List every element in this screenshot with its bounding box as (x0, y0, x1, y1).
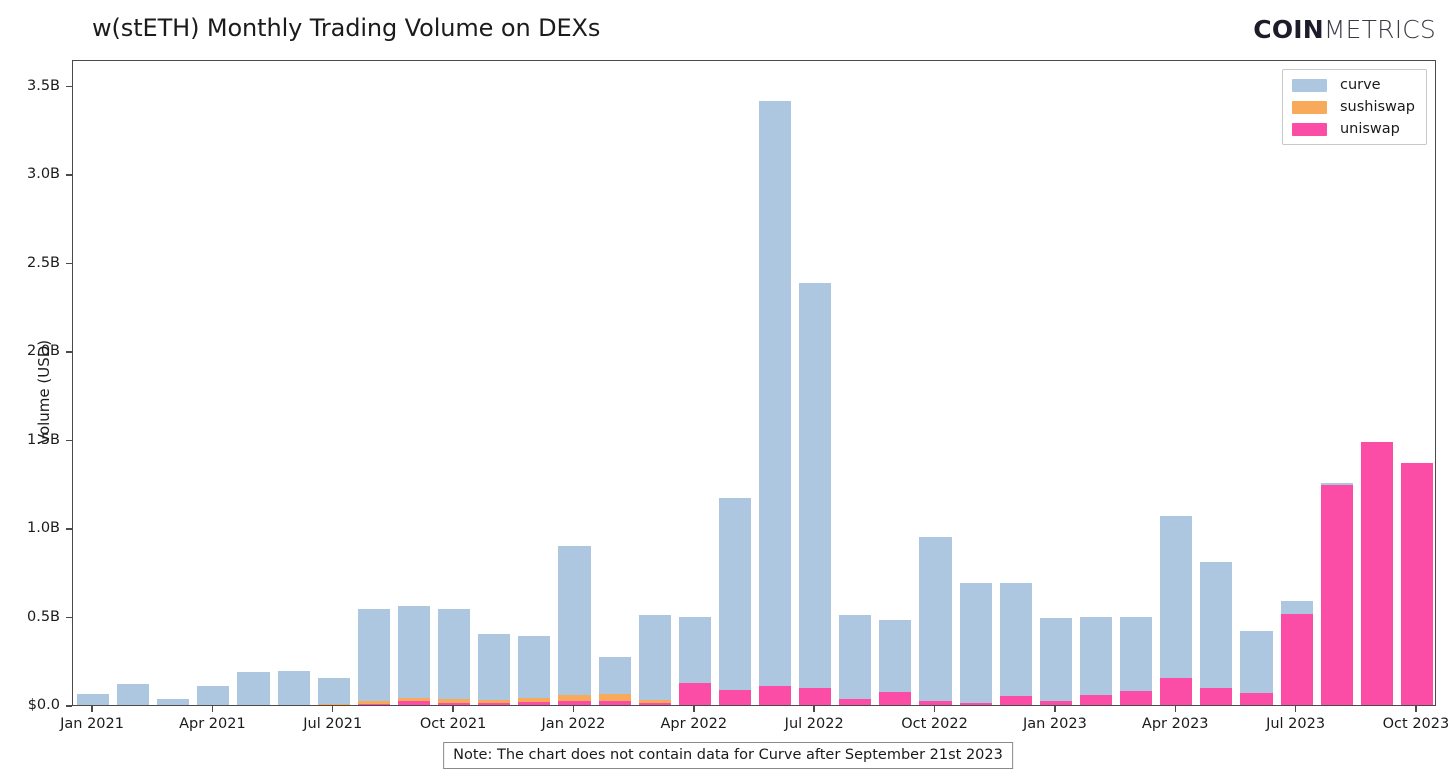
x-tick-mark (934, 706, 935, 712)
legend-item-uniswap[interactable]: uniswap (1292, 121, 1415, 137)
bar-segment-uniswap (919, 701, 951, 705)
legend-swatch-sushiswap (1292, 101, 1327, 114)
bar-group[interactable] (599, 61, 631, 705)
bar-group[interactable] (799, 61, 831, 705)
bar-group[interactable] (839, 61, 871, 705)
bar-group[interactable] (639, 61, 671, 705)
x-tick-mark (573, 706, 574, 712)
x-tick-label: Jul 2022 (785, 716, 844, 732)
bar-group[interactable] (1000, 61, 1032, 705)
bar-segment-uniswap (679, 683, 711, 705)
bar-segment-uniswap (759, 686, 791, 705)
plot-frame: curvesushiswapuniswap (72, 60, 1436, 706)
x-tick-mark (693, 706, 694, 712)
bar-segment-uniswap (1240, 693, 1272, 705)
bar-segment-curve (157, 699, 189, 705)
x-tick-label: Jul 2023 (1266, 716, 1325, 732)
bar-segment-curve (599, 657, 631, 694)
x-tick-label: Apr 2022 (661, 716, 728, 732)
bar-segment-uniswap (879, 692, 911, 705)
y-tick-mark (66, 440, 72, 441)
bar-segment-curve (278, 671, 310, 706)
y-tick-label: 3.0B (0, 166, 60, 182)
bar-group[interactable] (759, 61, 791, 705)
bar-group[interactable] (1361, 61, 1393, 705)
y-tick-label: 2.0B (0, 343, 60, 359)
bar-segment-uniswap (478, 703, 510, 705)
bar-segment-uniswap (799, 688, 831, 705)
bar-group[interactable] (237, 61, 269, 705)
bar-segment-curve (1321, 483, 1353, 484)
bar-group[interactable] (478, 61, 510, 705)
bar-segment-curve (679, 617, 711, 682)
x-tick-label: Jul 2021 (303, 716, 362, 732)
bar-group[interactable] (1281, 61, 1313, 705)
bar-group[interactable] (1200, 61, 1232, 705)
bar-group[interactable] (197, 61, 229, 705)
legend-item-sushiswap[interactable]: sushiswap (1292, 99, 1415, 115)
bar-group[interactable] (1160, 61, 1192, 705)
bar-segment-uniswap (960, 703, 992, 705)
bar-segment-curve (639, 615, 671, 700)
bar-segment-uniswap (839, 699, 871, 705)
chart-page: w(stETH) Monthly Trading Volume on DEXs … (0, 0, 1456, 784)
legend-label-uniswap: uniswap (1340, 121, 1400, 137)
bar-group[interactable] (438, 61, 470, 705)
page-title: w(stETH) Monthly Trading Volume on DEXs (92, 14, 600, 42)
bar-segment-sushiswap (558, 695, 590, 700)
bar-segment-sushiswap (358, 701, 390, 704)
bar-segment-uniswap (1321, 485, 1353, 705)
bar-segment-uniswap (1120, 691, 1152, 705)
y-tick-label: 1.0B (0, 520, 60, 536)
bar-segment-sushiswap (478, 700, 510, 703)
x-tick-mark (1175, 706, 1176, 712)
x-tick-mark (813, 706, 814, 712)
bar-group[interactable] (960, 61, 992, 705)
x-tick-label: Oct 2023 (1383, 716, 1450, 732)
bar-group[interactable] (1040, 61, 1072, 705)
y-tick-mark (66, 86, 72, 87)
bar-segment-curve (960, 583, 992, 702)
bar-segment-curve (237, 672, 269, 705)
bar-segment-uniswap (558, 701, 590, 705)
bar-segment-uniswap (1401, 463, 1433, 705)
y-tick-mark (66, 617, 72, 618)
bar-group[interactable] (318, 61, 350, 705)
y-tick-mark (66, 263, 72, 264)
bar-group[interactable] (398, 61, 430, 705)
x-tick-label: Apr 2021 (179, 716, 246, 732)
y-tick-label: 0.5B (0, 609, 60, 625)
bar-segment-uniswap (639, 703, 671, 705)
bar-segment-curve (1281, 601, 1313, 614)
bar-segment-uniswap (518, 702, 550, 705)
chart-note: Note: The chart does not contain data fo… (443, 742, 1013, 769)
bar-group[interactable] (278, 61, 310, 705)
logo-metrics-text: METRICS (1324, 15, 1436, 44)
coinmetrics-logo: COINMETRICS (1253, 17, 1436, 42)
y-tick-label: 2.5B (0, 255, 60, 271)
y-tick-mark (66, 174, 72, 175)
y-tick-label: 1.5B (0, 432, 60, 448)
bar-segment-curve (1120, 617, 1152, 690)
legend-swatch-curve (1292, 79, 1327, 92)
bar-segment-curve (919, 537, 951, 701)
bar-segment-sushiswap (599, 694, 631, 701)
bar-group[interactable] (157, 61, 189, 705)
x-tick-mark (1054, 706, 1055, 712)
bar-segment-sushiswap (639, 700, 671, 703)
bar-group[interactable] (1120, 61, 1152, 705)
bar-segment-uniswap (1160, 678, 1192, 705)
bar-segment-curve (1200, 562, 1232, 689)
bar-segment-curve (1040, 618, 1072, 701)
bar-group[interactable] (879, 61, 911, 705)
x-tick-label: Jan 2022 (542, 716, 606, 732)
bar-segment-curve (719, 498, 751, 690)
bar-segment-uniswap (398, 701, 430, 705)
bar-segment-curve (799, 283, 831, 688)
bar-segment-uniswap (599, 701, 631, 705)
x-tick-mark (91, 706, 92, 712)
y-tick-label: $0.0 (0, 697, 60, 713)
bar-group[interactable] (358, 61, 390, 705)
bar-segment-curve (77, 694, 109, 706)
bar-segment-uniswap (1200, 688, 1232, 705)
bar-segment-curve (438, 609, 470, 699)
y-tick-mark (66, 705, 72, 706)
bar-segment-uniswap (1281, 614, 1313, 705)
bar-group[interactable] (919, 61, 951, 705)
legend-item-curve[interactable]: curve (1292, 77, 1415, 93)
bar-segment-curve (518, 636, 550, 698)
x-tick-mark (1415, 706, 1416, 712)
bar-group[interactable] (1080, 61, 1112, 705)
x-tick-mark (332, 706, 333, 712)
bar-group[interactable] (1401, 61, 1433, 705)
bar-segment-uniswap (1361, 442, 1393, 705)
bar-segment-sushiswap (318, 704, 350, 705)
y-tick-mark (66, 351, 72, 352)
bar-segment-uniswap (1040, 701, 1072, 705)
bar-segment-curve (759, 101, 791, 687)
logo-coin-text: COIN (1253, 15, 1324, 44)
bar-segment-sushiswap (518, 698, 550, 702)
bar-group[interactable] (1240, 61, 1272, 705)
bar-group[interactable] (1321, 61, 1353, 705)
bar-group[interactable] (558, 61, 590, 705)
x-tick-label: Jan 2023 (1023, 716, 1087, 732)
bar-segment-curve (197, 686, 229, 705)
x-tick-label: Jan 2021 (60, 716, 124, 732)
y-tick-mark (66, 528, 72, 529)
bar-group[interactable] (117, 61, 149, 705)
bar-segment-curve (478, 634, 510, 699)
bar-group[interactable] (679, 61, 711, 705)
bar-segment-curve (117, 684, 149, 705)
bar-segment-curve (879, 620, 911, 692)
x-tick-label: Oct 2022 (901, 716, 968, 732)
bar-segment-curve (318, 678, 350, 704)
bar-segment-curve (1080, 617, 1112, 696)
bar-segment-curve (358, 609, 390, 701)
bar-segment-curve (839, 615, 871, 699)
legend-swatch-uniswap (1292, 123, 1327, 136)
chart-legend[interactable]: curvesushiswapuniswap (1282, 69, 1427, 145)
y-tick-label: 3.5B (0, 78, 60, 94)
x-tick-label: Oct 2021 (420, 716, 487, 732)
plot-area (73, 61, 1435, 705)
bar-segment-uniswap (1000, 696, 1032, 705)
x-tick-mark (212, 706, 213, 712)
x-tick-mark (452, 706, 453, 712)
bar-segment-uniswap (719, 690, 751, 705)
x-tick-mark (1295, 706, 1296, 712)
legend-label-sushiswap: sushiswap (1340, 99, 1415, 115)
x-tick-label: Apr 2023 (1142, 716, 1209, 732)
bar-segment-sushiswap (398, 698, 430, 700)
legend-label-curve: curve (1340, 77, 1381, 93)
bar-group[interactable] (719, 61, 751, 705)
bar-segment-curve (1240, 631, 1272, 693)
bar-group[interactable] (77, 61, 109, 705)
bar-segment-curve (558, 546, 590, 696)
bar-segment-uniswap (1080, 695, 1112, 705)
bar-segment-curve (398, 606, 430, 699)
bar-group[interactable] (518, 61, 550, 705)
bar-segment-sushiswap (438, 699, 470, 703)
bar-segment-curve (1160, 516, 1192, 679)
bar-segment-uniswap (438, 703, 470, 705)
bar-segment-curve (1000, 583, 1032, 696)
